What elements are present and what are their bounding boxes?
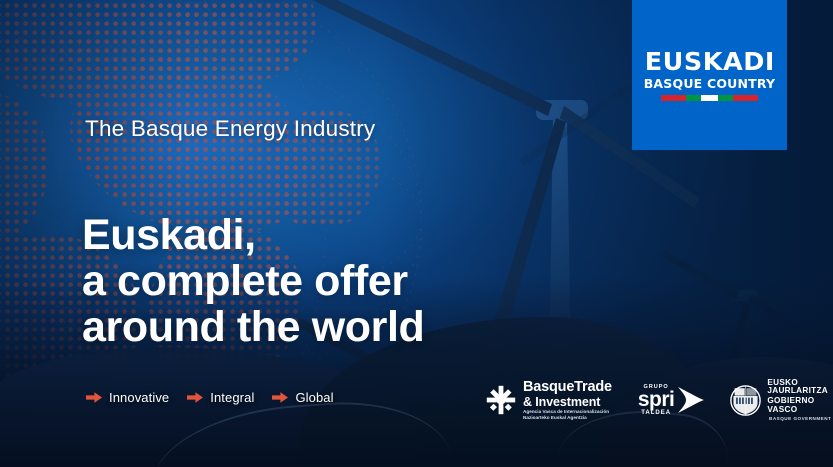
arrow-right-icon (187, 391, 203, 404)
page-title: Euskadi, a complete offer around the wor… (82, 212, 424, 350)
tagline-item-integral: Integral (187, 390, 254, 405)
tagline-label: Innovative (109, 390, 169, 405)
slide-eyebrow: The Basque Energy Industry (85, 116, 375, 142)
tagline-item-innovative: Innovative (86, 390, 169, 405)
euskadi-basque-country-logo: EUSKADI BASQUE COUNTRY (632, 0, 787, 150)
basque-trade-line-1: BasqueTrade (523, 380, 612, 395)
headline-line-3: around the world (82, 304, 424, 350)
basque-government-text: EUSKO JAURLARITZA GOBIERNO VASCO BASQUE … (767, 379, 833, 421)
tagline-label: Global (295, 390, 333, 405)
gov-line-2: GOBIERNO VASCO (767, 397, 833, 413)
headline-line-2: a complete offer (82, 258, 424, 304)
basque-trade-text: BasqueTrade & Investment Agencia Vasca d… (523, 380, 612, 420)
basque-asterisk-icon (486, 385, 516, 415)
spri-group-logo: GRUPO spri TALDEA (638, 385, 707, 416)
basque-trade-line-2: & Investment (523, 396, 612, 409)
spri-swoosh-icon (676, 385, 706, 415)
basque-government-crest-icon (730, 385, 761, 416)
spri-wordmark: spri (638, 391, 675, 409)
euskadi-wordmark: EUSKADI (644, 49, 774, 74)
arrow-right-icon (272, 391, 288, 404)
arrow-right-icon (86, 391, 102, 404)
tagline-row: Innovative Integral Global (86, 390, 343, 405)
basque-government-logo: EUSKO JAURLARITZA GOBIERNO VASCO BASQUE … (730, 379, 833, 421)
partner-logo-bar: BasqueTrade & Investment Agencia Vasca d… (486, 379, 833, 421)
headline-line-1: Euskadi, (82, 212, 424, 258)
basque-trade-investment-logo: BasqueTrade & Investment Agencia Vasca d… (486, 380, 612, 420)
tagline-label: Integral (210, 390, 254, 405)
spri-text: GRUPO spri TALDEA (638, 385, 675, 416)
euskadi-flag-stripe (661, 95, 759, 101)
basque-trade-line-3: Agencia Vasca de Internacionalización (523, 410, 612, 415)
basque-trade-line-4: Nazioarteko Euskal Agentzia (523, 416, 612, 421)
gov-line-1: EUSKO JAURLARITZA (767, 379, 833, 395)
euskadi-subtitle: BASQUE COUNTRY (644, 78, 776, 91)
tagline-item-global: Global (272, 390, 333, 405)
presentation-slide: EUSKADI BASQUE COUNTRY The Basque Energy… (0, 0, 833, 467)
spri-bottom-label: TALDEA (638, 410, 675, 416)
gov-line-3: BASQUE GOVERNMENT (767, 417, 833, 422)
